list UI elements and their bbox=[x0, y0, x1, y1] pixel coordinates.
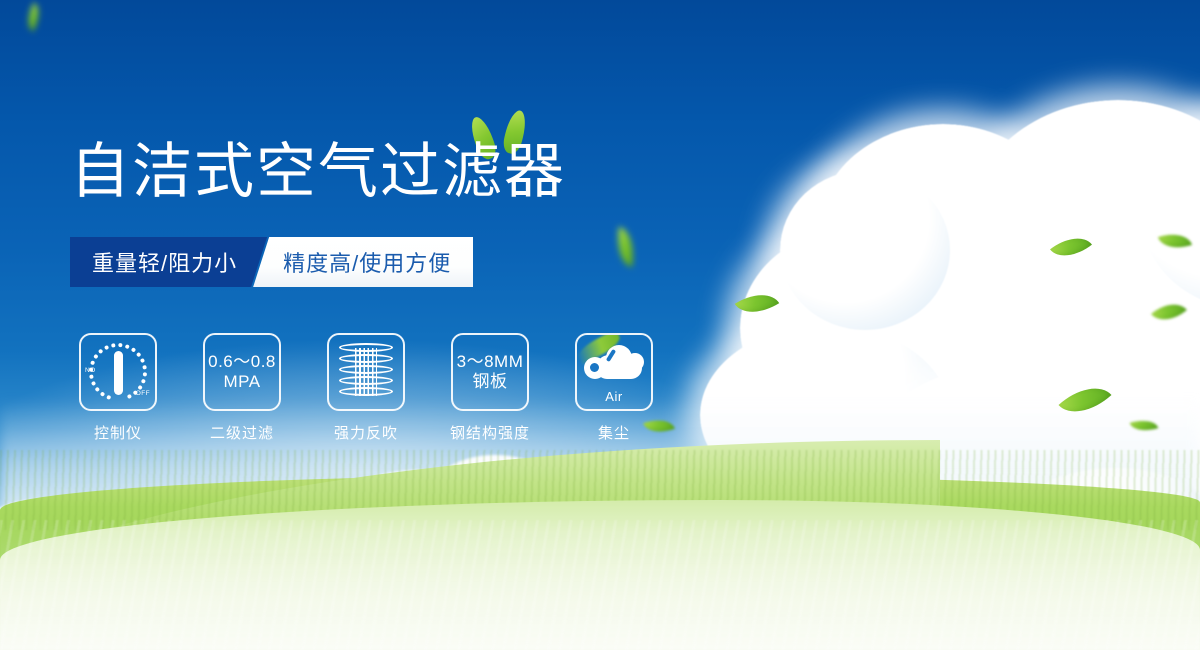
feature-dust-collection[interactable]: Air 集尘 bbox=[566, 333, 662, 443]
badge-precision: 精度高/使用方便 bbox=[253, 237, 473, 287]
feature-icon-box bbox=[327, 333, 405, 411]
feature-caption: 集尘 bbox=[598, 422, 630, 443]
feature-controller[interactable]: NO OFF 控制仪 bbox=[70, 333, 166, 443]
pressure-text-icon: 0.6～0.8 MPA bbox=[208, 352, 276, 392]
feature-caption: 钢结构强度 bbox=[450, 422, 530, 443]
feature-steel-strength[interactable]: 3～8MM 钢板 钢结构强度 bbox=[442, 333, 538, 443]
gauge-label-no: NO bbox=[85, 367, 96, 374]
steel-text-icon: 3～8MM 钢板 bbox=[457, 352, 524, 392]
steel-line-2: 钢板 bbox=[457, 372, 524, 392]
gauge-icon: NO OFF bbox=[87, 341, 149, 403]
grass-highlight bbox=[0, 520, 1200, 650]
page-title: 自洁式空气过滤器 bbox=[70, 142, 566, 202]
steel-line-1: 3～8MM bbox=[457, 352, 524, 372]
feature-list: NO OFF 控制仪 0.6～0.8 MPA 二级过滤 bbox=[70, 333, 662, 443]
feature-icon-box: 0.6～0.8 MPA bbox=[203, 333, 281, 411]
feature-icon-box: 3～8MM 钢板 bbox=[451, 333, 529, 411]
cloud-air-label: Air bbox=[582, 389, 646, 404]
product-banner: 自洁式空气过滤器 重量轻/阻力小 精度高/使用方便 bbox=[0, 0, 1200, 650]
tagline-badges: 重量轻/阻力小 精度高/使用方便 bbox=[70, 237, 473, 287]
feature-backblow[interactable]: 强力反吹 bbox=[318, 333, 414, 443]
coil-icon bbox=[339, 343, 393, 401]
feature-icon-box: NO OFF bbox=[79, 333, 157, 411]
badge-lightweight: 重量轻/阻力小 bbox=[70, 237, 267, 287]
gauge-label-off: OFF bbox=[136, 390, 150, 397]
feature-secondary-filter[interactable]: 0.6～0.8 MPA 二级过滤 bbox=[194, 333, 290, 443]
feature-icon-box: Air bbox=[575, 333, 653, 411]
feature-caption: 控制仪 bbox=[94, 422, 142, 443]
pressure-line-2: MPA bbox=[208, 372, 276, 392]
pressure-line-1: 0.6～0.8 bbox=[208, 352, 276, 372]
feature-caption: 强力反吹 bbox=[334, 422, 398, 443]
cloud-air-icon: Air bbox=[582, 343, 646, 401]
feature-caption: 二级过滤 bbox=[210, 422, 274, 443]
